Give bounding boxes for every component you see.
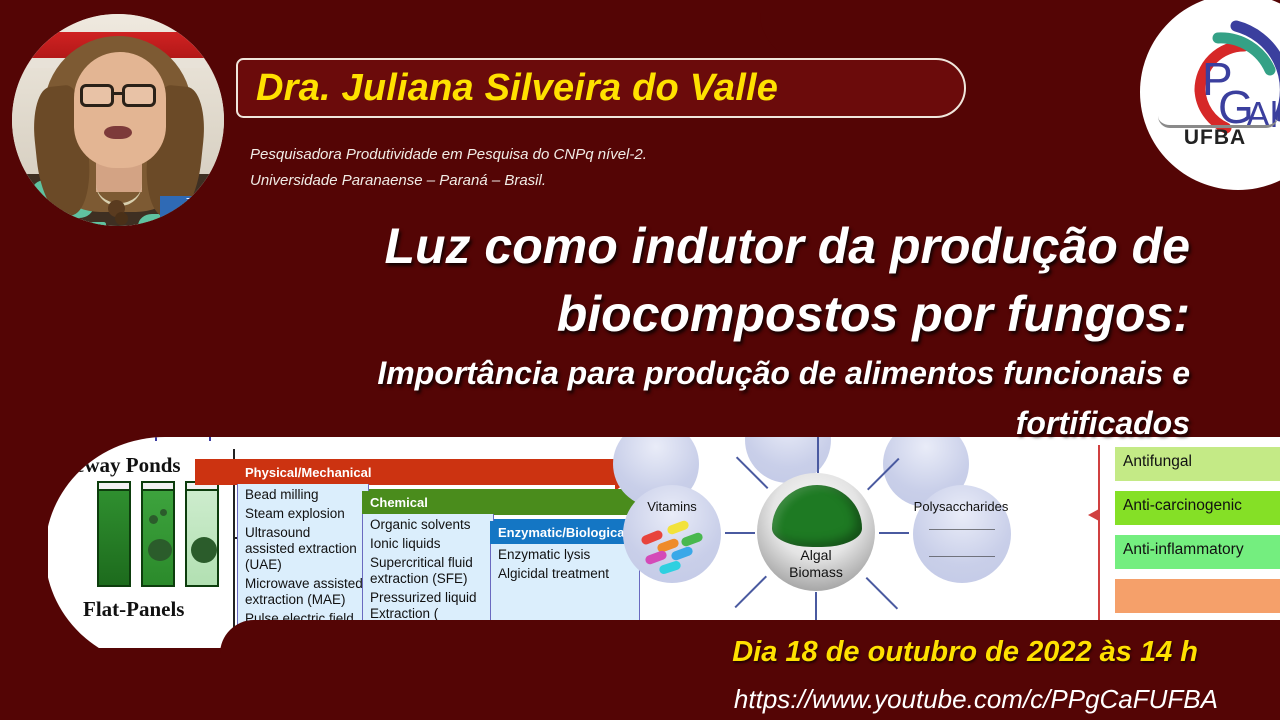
tank-2 — [141, 489, 175, 587]
method-header-enzymatic: Enzymatic/Biological — [490, 521, 640, 544]
method-item: Ultrasound assisted extraction (UAE) — [245, 525, 363, 573]
spoke-line — [734, 576, 767, 609]
algae-blob — [160, 509, 167, 516]
spoke-line — [725, 532, 755, 534]
tank-3 — [185, 489, 219, 587]
photo-face — [74, 52, 166, 168]
pgali-ufba-logo: P G Ali UFBA — [1140, 0, 1280, 190]
pattern-leaf — [26, 210, 54, 226]
method-items-enzymatic: Enzymatic lysis Algicidal treatment — [491, 542, 641, 590]
polysaccharide-structure-icon — [929, 529, 995, 557]
affiliation-line-1: Pesquisadora Produtividade em Pesquisa d… — [250, 142, 950, 168]
node-label-vitamins: Vitamins — [623, 499, 721, 514]
eyeglasses-bridge-icon — [113, 92, 124, 95]
method-items-physical: Bead milling Steam explosion Ultrasound … — [238, 482, 370, 635]
event-url[interactable]: https://www.youtube.com/c/PPgCaFUFBA — [0, 684, 1218, 715]
activity-box-extra — [1115, 579, 1280, 613]
affiliation-block: Pesquisadora Produtividade em Pesquisa d… — [250, 142, 950, 194]
method-item: Ionic liquids — [370, 536, 488, 552]
method-item: Bead milling — [245, 487, 363, 503]
tank-1 — [97, 489, 131, 587]
speaker-photo: DO VALLE UNIPAR — [12, 14, 224, 226]
method-header-chemical: Chemical — [362, 491, 512, 514]
photo-name-tag-line1: DO VALLE — [186, 197, 224, 206]
affiliation-line-2: Universidade Paranaense – Paraná – Brasi… — [250, 168, 950, 194]
method-item: Enzymatic lysis — [498, 547, 634, 563]
method-item: Microwave assisted extraction (MAE) — [245, 576, 363, 608]
tank-lid-icon — [97, 481, 131, 491]
method-items-chemical: Organic solvents Ionic liquids Supercrit… — [363, 512, 495, 630]
subtitle-line-2: fortificados — [90, 398, 1190, 448]
photo-mouth — [104, 126, 132, 139]
eyeglasses-left-icon — [80, 84, 114, 107]
method-item: Organic solvents — [370, 517, 488, 533]
algae-blob — [149, 515, 158, 524]
activity-arrow-icon — [1088, 509, 1099, 521]
method-item: Pressurized liquid Extraction ( — [370, 590, 488, 622]
node-label-polysaccharides: Polysaccharides — [905, 499, 1017, 514]
speaker-name-banner: Dra. Juliana Silveira do Valle — [236, 58, 966, 118]
method-item: Steam explosion — [245, 506, 363, 522]
title-line-1: Luz como indutor da produção de — [90, 212, 1190, 280]
eyeglasses-right-icon — [122, 84, 156, 107]
method-item: Supercritical fluid extraction (SFE) — [370, 555, 488, 587]
spoke-line — [866, 577, 899, 610]
algal-biomass-label-2: Biomass — [757, 564, 875, 580]
title-line-2: biocompostos por fungos: — [90, 280, 1190, 348]
speaker-name: Dra. Juliana Silveira do Valle — [238, 67, 778, 110]
method-item: Algicidal treatment — [498, 566, 634, 582]
algae-blob — [148, 539, 172, 561]
spoke-line — [879, 532, 909, 534]
talk-title-block: Luz como indutor da produção de biocompo… — [90, 212, 1190, 448]
activity-box-anti-carcinogenic: Anti-carcinogenic — [1115, 491, 1280, 525]
activity-box-anti-inflammatory: Anti-inflammatory — [1115, 535, 1280, 569]
algae-blob — [191, 537, 217, 563]
tank-lid-icon — [141, 481, 175, 491]
flat-panels-label: Flat-Panels — [83, 597, 184, 622]
logo-graphic: P G Ali UFBA — [1140, 0, 1280, 190]
event-datetime: Dia 18 de outubro de 2022 às 14 h — [0, 636, 1198, 669]
subtitle-line-1: Importância para produção de alimentos f… — [90, 348, 1190, 398]
logo-institution: UFBA — [1140, 126, 1280, 150]
raceway-ponds-label: eway Ponds — [75, 453, 181, 478]
algal-biomass-label-1: Algal — [757, 547, 875, 563]
activity-box-antifungal: Antifungal — [1115, 447, 1280, 481]
method-header-physical: Physical/Mechanical — [237, 461, 452, 484]
poster-canvas: eway Ponds Flat-Panels — [0, 0, 1280, 720]
